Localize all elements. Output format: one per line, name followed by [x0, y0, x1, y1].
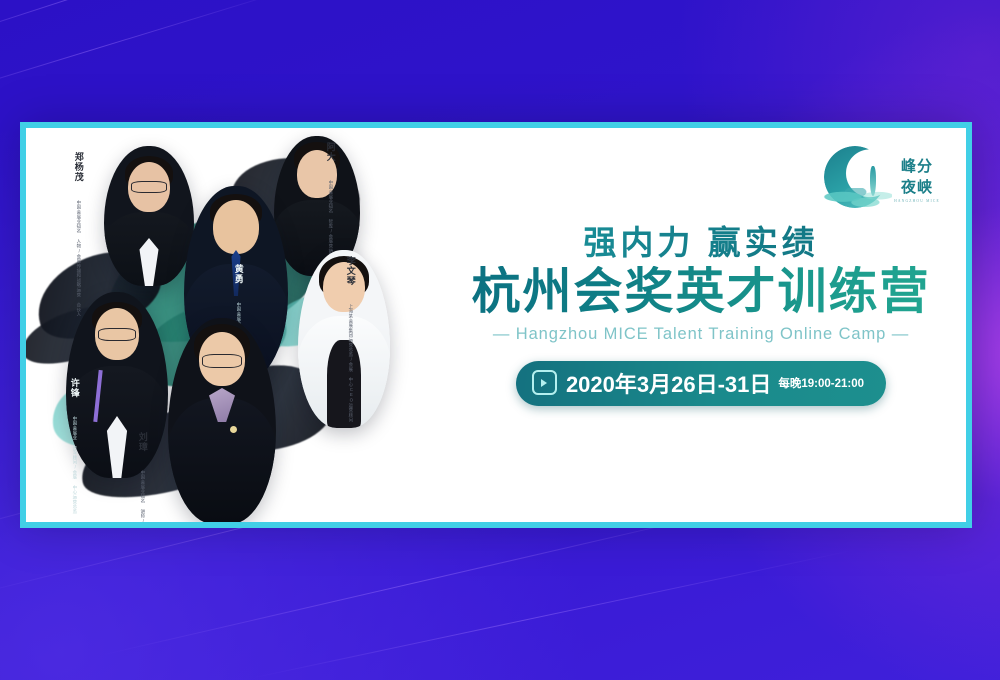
speaker-nametag-6: 刘璋 中国会展业知名 讲师/资深培训师	[134, 432, 151, 522]
schedule-time-range: 每晚19:00-21:00	[778, 375, 864, 391]
speaker-title: 中国会展业知名 人物/会展传播和战略运营 合伙人	[77, 200, 82, 317]
video-play-icon	[532, 370, 557, 395]
badge-pin	[230, 426, 237, 433]
speaker-name: 李文琴	[346, 256, 356, 286]
speaker-photo-1	[104, 146, 194, 286]
speaker-photo-6	[168, 318, 276, 522]
water-ripple-icon	[822, 188, 892, 210]
glasses-icon	[131, 181, 167, 193]
glasses-icon	[98, 328, 136, 341]
kicker-text: 强内力 赢实绩	[446, 224, 956, 262]
poster-card: 郑杨茂 中国会展业知名 人物/会展传播和战略运营 合伙人 阿大 中国会展业知名 …	[26, 128, 966, 522]
brand-logo: 峰分 夜峡 HANGZHOU MICE	[820, 144, 944, 218]
poster-content: 峰分 夜峡 HANGZHOU MICE 强内力 赢实绩 杭州会奖英才训练营 — …	[446, 128, 966, 522]
speaker-collage: 郑杨茂 中国会展业知名 人物/会展传播和战略运营 合伙人 阿大 中国会展业知名 …	[26, 128, 446, 522]
head	[213, 200, 259, 254]
speaker-name: 许锋	[70, 378, 80, 398]
speaker-title: 中国会展业 资深顾问/会展 中心运营总监	[73, 416, 78, 514]
banner-stage: 郑杨茂 中国会展业知名 人物/会展传播和战略运营 合伙人 阿大 中国会展业知名 …	[0, 0, 1000, 680]
main-title: 杭州会奖英才训练营	[446, 266, 956, 320]
speaker-title: 上海某会展集团运营总监/会展 中心CEO运营顾问	[349, 304, 354, 422]
glasses-icon	[202, 354, 242, 368]
logo-calligraphy-sub: HANGZHOU MICE	[894, 199, 940, 203]
headline-block: 强内力 赢实绩 杭州会奖英才训练营 — Hangzhou MICE Talent…	[446, 224, 956, 406]
speaker-nametag-2: 阿大 中国会展业知名 智库/会展营销操盘人	[322, 142, 339, 268]
logo-calligraphy-line1: 峰分	[901, 155, 933, 176]
english-subtitle: — Hangzhou MICE Talent Training Online C…	[446, 325, 956, 344]
speaker-name: 郑杨茂	[74, 152, 84, 182]
speaker-name: 黄勇	[234, 264, 244, 284]
speaker-name: 刘璋	[138, 432, 148, 452]
speaker-nametag-1: 郑杨茂 中国会展业知名 人物/会展传播和战略运营 合伙人	[70, 152, 87, 317]
speaker-name: 阿大	[326, 142, 336, 162]
speaker-title: 中国会展业知名 讲师/资深培训师	[141, 470, 146, 522]
logo-calligraphy-line2: 夜峡	[901, 176, 933, 197]
poster-card-frame: 郑杨茂 中国会展业知名 人物/会展传播和战略运营 合伙人 阿大 中国会展业知名 …	[20, 122, 972, 528]
schedule-pill: 2020年3月26日-31日 每晚19:00-21:00	[516, 361, 886, 406]
schedule-date-range: 2020年3月26日-31日	[566, 367, 771, 399]
logo-calligraphy: 峰分 夜峡 HANGZHOU MICE	[892, 152, 942, 206]
speaker-nametag-5: 许锋 中国会展业 资深顾问/会展 中心运营总监	[66, 378, 83, 514]
figure-icon	[870, 166, 876, 196]
speaker-nametag-4: 李文琴 上海某会展集团运营总监/会展 中心CEO运营顾问	[342, 256, 359, 422]
